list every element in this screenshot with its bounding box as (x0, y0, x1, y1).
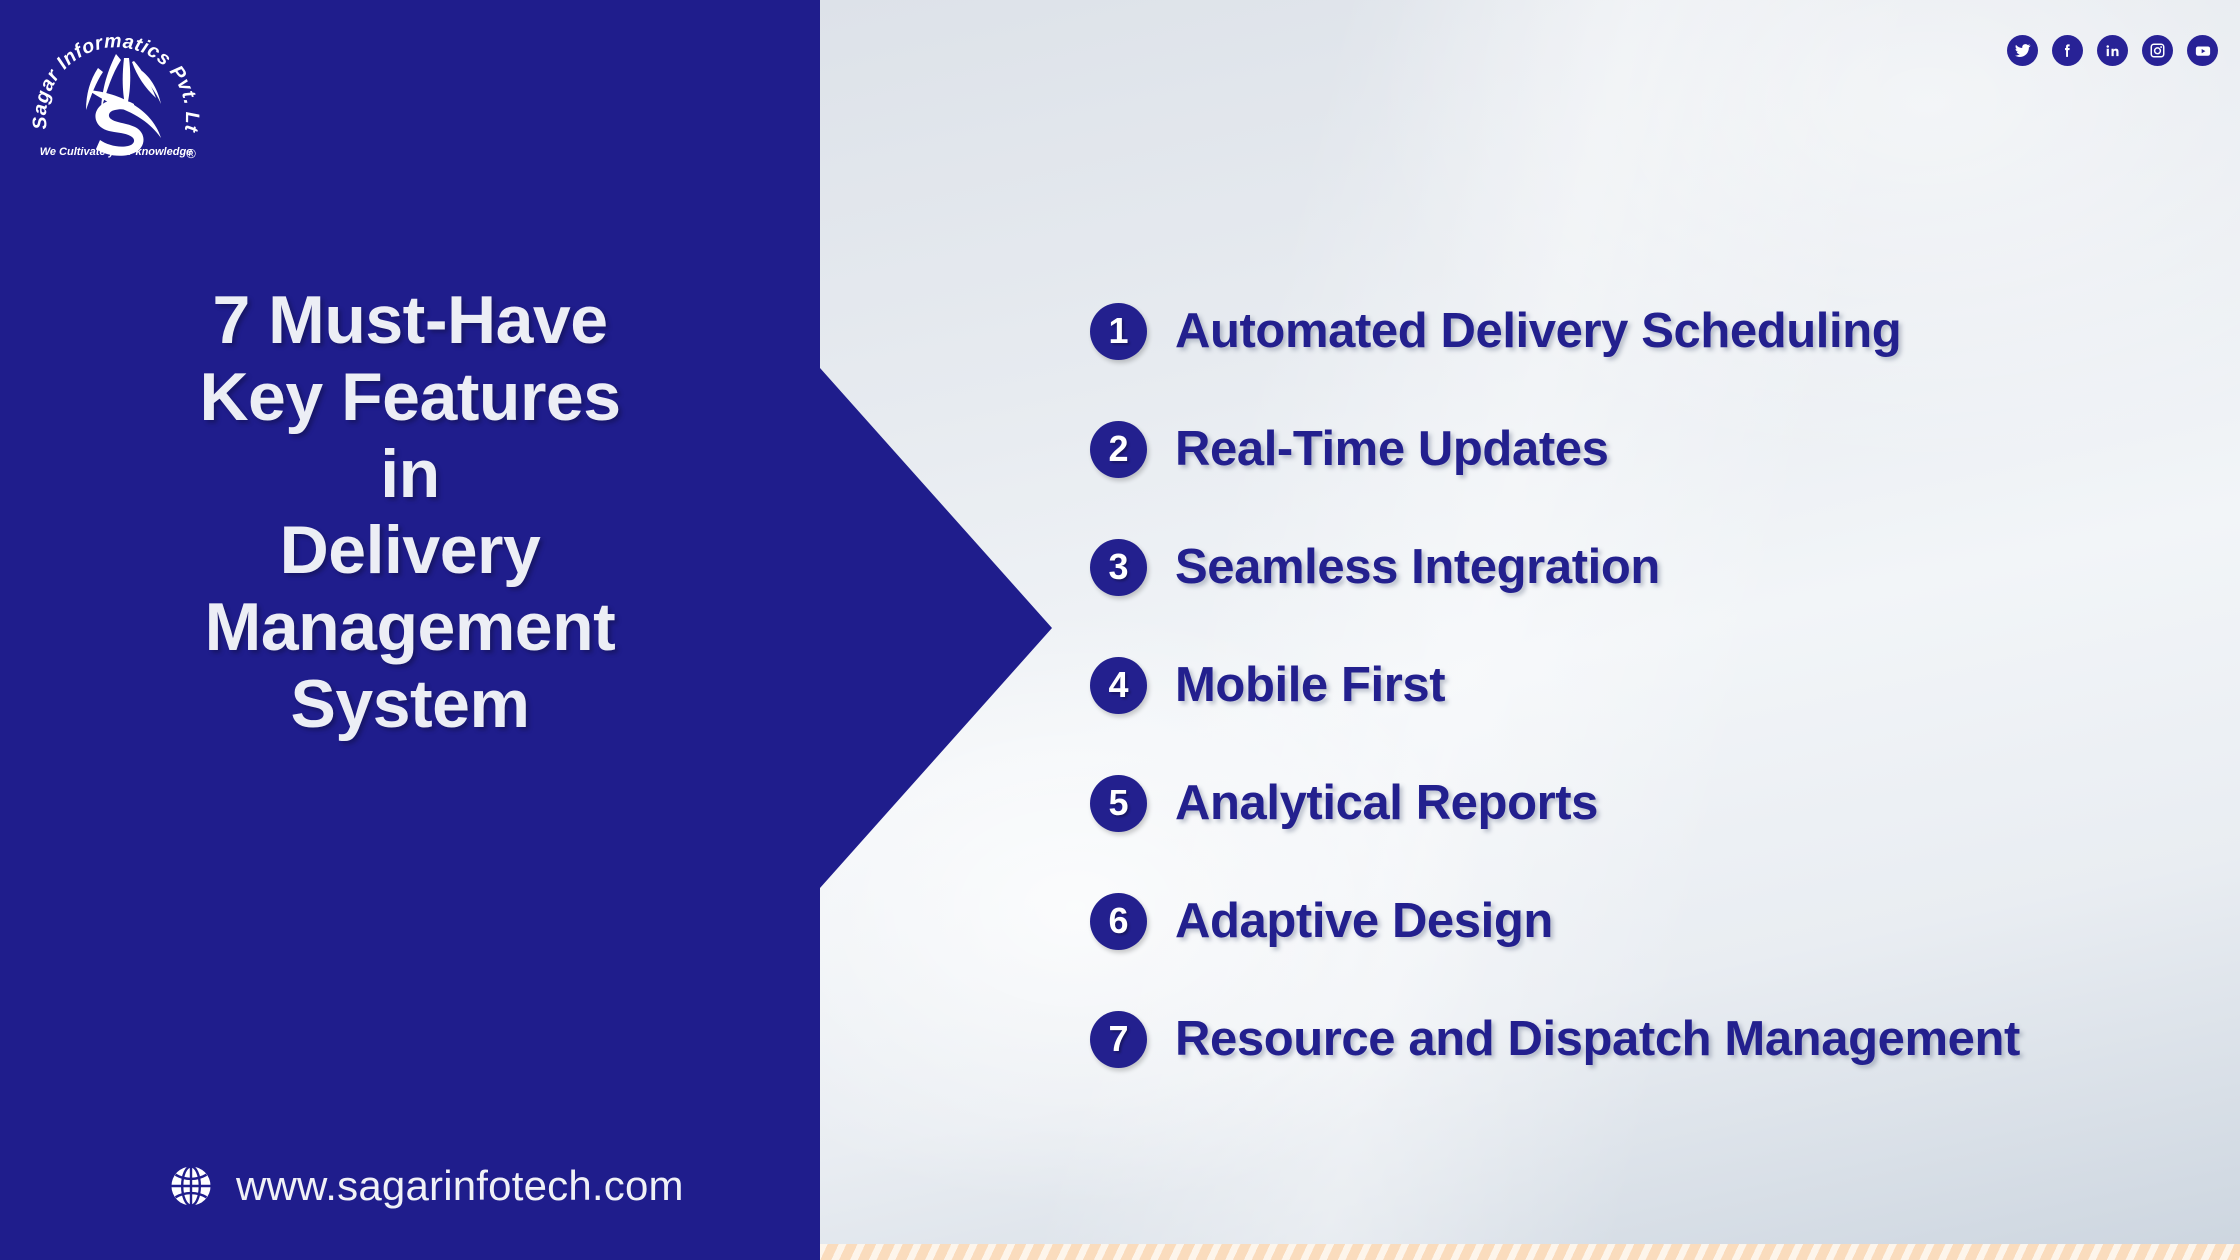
feature-number-badge: 2 (1090, 421, 1147, 478)
list-item: 1 Automated Delivery Scheduling (1090, 272, 2230, 390)
facebook-icon[interactable] (2052, 35, 2083, 66)
social-links (2007, 35, 2218, 66)
bottom-chevron-strip (820, 1244, 2240, 1260)
footer-website[interactable]: www.sagarinfotech.com (168, 1162, 684, 1210)
feature-label: Automated Delivery Scheduling (1175, 303, 1901, 359)
list-item: 5 Analytical Reports (1090, 744, 2230, 862)
title-line-6: System (0, 666, 820, 743)
feature-label: Analytical Reports (1175, 775, 1598, 831)
website-url[interactable]: www.sagarinfotech.com (236, 1162, 684, 1210)
infographic-poster: Sagar Informatics Pvt. Ltd. We Cultivate… (0, 0, 2240, 1260)
feature-label: Adaptive Design (1175, 893, 1553, 949)
list-item: 4 Mobile First (1090, 626, 2230, 744)
feature-label: Mobile First (1175, 657, 1445, 713)
company-logo[interactable]: Sagar Informatics Pvt. Ltd. We Cultivate… (28, 18, 204, 170)
instagram-icon[interactable] (2142, 35, 2173, 66)
feature-number-badge: 3 (1090, 539, 1147, 596)
logo-registered-mark: ® (186, 146, 196, 161)
title-line-4: Delivery (0, 512, 820, 589)
list-item: 7 Resource and Dispatch Management (1090, 980, 2230, 1098)
title-line-5: Management (0, 589, 820, 666)
title-line-1: 7 Must-Have (0, 282, 820, 359)
globe-icon (168, 1163, 214, 1209)
feature-number-badge: 1 (1090, 303, 1147, 360)
youtube-icon[interactable] (2187, 35, 2218, 66)
feature-number-badge: 7 (1090, 1011, 1147, 1068)
svg-text:Sagar Informatics Pvt. Ltd.: Sagar Informatics Pvt. Ltd. (28, 18, 203, 135)
feature-label: Real-Time Updates (1175, 421, 1608, 477)
linkedin-icon[interactable] (2097, 35, 2128, 66)
logo-tagline: We Cultivate your knowledge (40, 146, 193, 158)
feature-label: Seamless Integration (1175, 539, 1660, 595)
feature-label: Resource and Dispatch Management (1175, 1011, 2020, 1067)
twitter-icon[interactable] (2007, 35, 2038, 66)
feature-number-badge: 5 (1090, 775, 1147, 832)
list-item: 6 Adaptive Design (1090, 862, 2230, 980)
list-item: 2 Real-Time Updates (1090, 390, 2230, 508)
title-line-3: in (0, 436, 820, 513)
feature-number-badge: 6 (1090, 893, 1147, 950)
logo-arc-text: Sagar Informatics Pvt. Ltd. (28, 18, 203, 135)
title-line-2: Key Features (0, 359, 820, 436)
list-item: 3 Seamless Integration (1090, 508, 2230, 626)
feature-list: 1 Automated Delivery Scheduling 2 Real-T… (1090, 272, 2230, 1098)
page-title: 7 Must-Have Key Features in Delivery Man… (0, 282, 820, 743)
feature-number-badge: 4 (1090, 657, 1147, 714)
